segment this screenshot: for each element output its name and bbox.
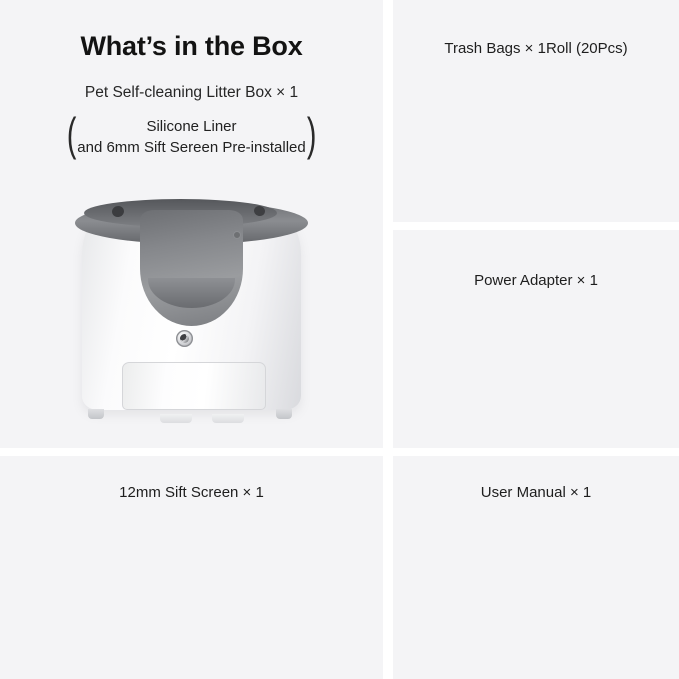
litter-box-foot <box>88 409 104 419</box>
panel-sift-screen: 12mm Sift Screen × 1 <box>0 456 383 679</box>
main-note-line-2: and 6mm Sift Sereen Pre-installed <box>32 137 352 158</box>
panel-user-manual: User Manual × 1 User Manual <box>393 456 679 679</box>
litter-box-cavity <box>140 210 243 326</box>
panel-power-adapter: Power Adapter × 1 <box>393 230 679 448</box>
litter-box-screw <box>233 231 241 239</box>
panel-main-litter-box: What’s in the Box Pet Self-cleaning Litt… <box>0 0 383 448</box>
page-title: What’s in the Box <box>0 0 383 62</box>
sift-screen-caption: 12mm Sift Screen × 1 <box>0 456 383 501</box>
close-paren: ) <box>307 111 317 157</box>
litter-box-foot <box>212 414 244 423</box>
main-note-line-1: Silicone Liner <box>32 116 352 137</box>
whats-in-the-box-board: What’s in the Box Pet Self-cleaning Litt… <box>0 0 679 679</box>
litter-box-drawer <box>122 362 266 410</box>
litter-box-illustration <box>64 192 319 427</box>
litter-box-foot <box>276 409 292 419</box>
open-paren: ( <box>66 111 76 157</box>
brand-logo-icon <box>176 330 193 347</box>
user-manual-caption: User Manual × 1 <box>393 456 679 501</box>
main-item-label: Pet Self-cleaning Litter Box × 1 <box>0 62 383 102</box>
main-note-block: ( ) Silicone Liner and 6mm Sift Sereen P… <box>32 102 352 158</box>
trash-bags-caption: Trash Bags × 1Roll (20Pcs) <box>393 0 679 57</box>
power-adapter-caption: Power Adapter × 1 <box>393 230 679 289</box>
litter-box-foot <box>160 414 192 423</box>
panel-trash-bags: Trash Bags × 1Roll (20Pcs) <box>393 0 679 222</box>
